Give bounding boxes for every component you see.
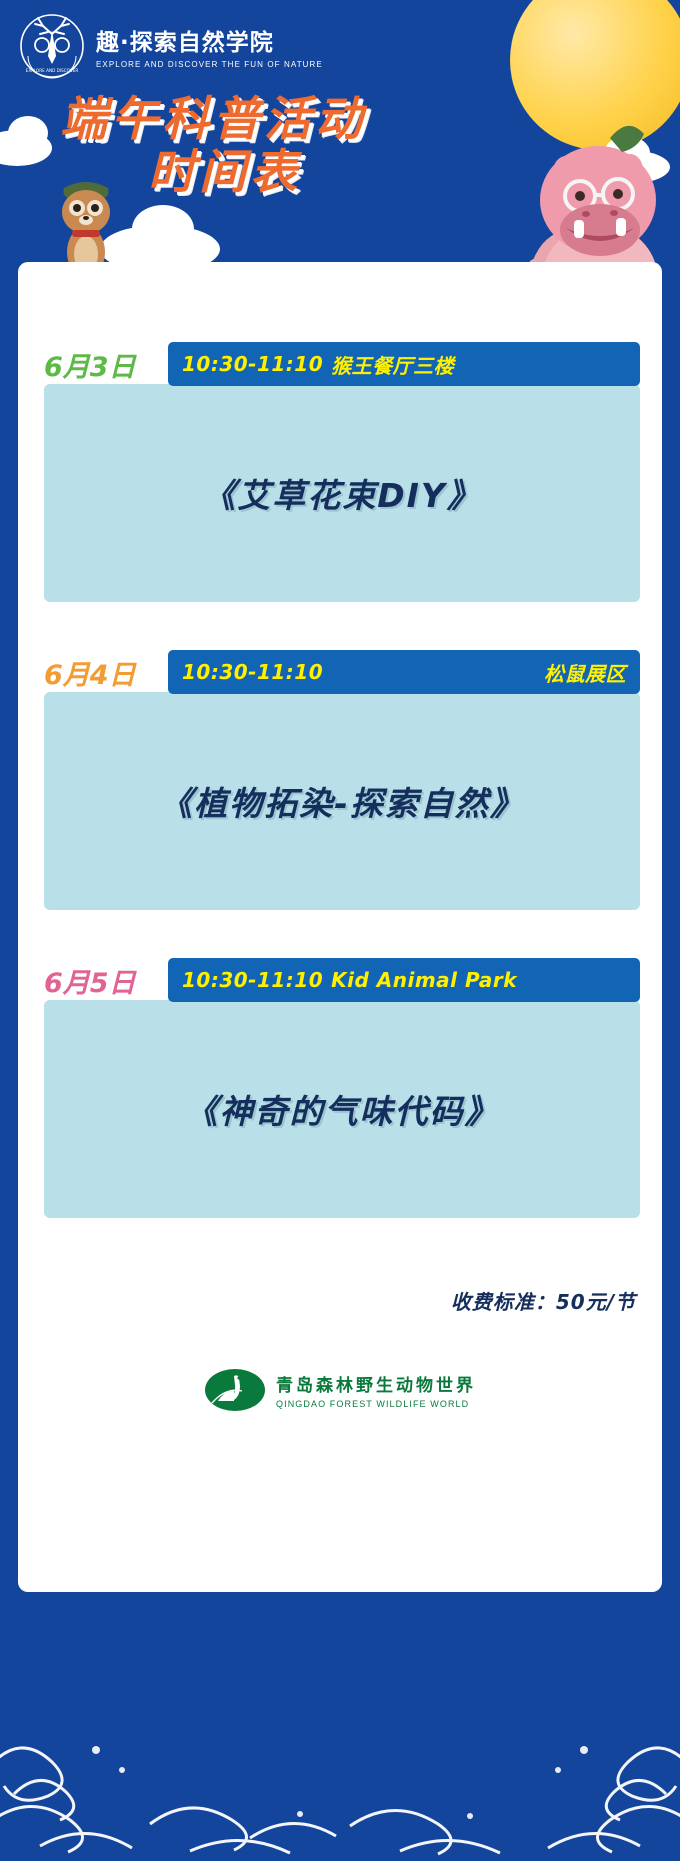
event-date: 6月4日 [44, 650, 168, 694]
event-body: 《艾草花束DIY》 [44, 384, 640, 602]
event-time: 10:30-11:10 [182, 352, 323, 376]
event-row[interactable]: 6月3日 10:30-11:10 猴王餐厅三楼 《艾草花束DIY》 [18, 342, 662, 602]
event-header: 6月5日 10:30-11:10 Kid Animal Park [18, 958, 662, 1002]
event-date: 6月5日 [44, 958, 168, 1002]
event-time: 10:30-11:10 [182, 660, 323, 684]
event-location: 松鼠展区 [544, 658, 626, 687]
event-title: 《艾草花束DIY》 [202, 469, 482, 517]
brand-name-en: EXPLORE AND DISCOVER THE FUN OF NATURE [96, 60, 323, 69]
svg-text:EXPLORE AND DISCOVER: EXPLORE AND DISCOVER [26, 68, 79, 73]
event-header: 6月4日 10:30-11:10 松鼠展区 [18, 650, 662, 694]
giraffe-in-circle-icon [204, 1367, 266, 1413]
event-list: 6月3日 10:30-11:10 猴王餐厅三楼 《艾草花束DIY》 6月4日 1… [18, 342, 662, 1266]
event-location: 猴王餐厅三楼 [331, 350, 454, 379]
event-title: 《神奇的气味代码》 [185, 1085, 500, 1133]
event-header: 6月3日 10:30-11:10 猴王餐厅三楼 [18, 342, 662, 386]
brand-logo: EXPLORE AND DISCOVER 趣·探索自然学院 EXPLORE AN… [18, 12, 323, 80]
footer-name-en: QINGDAO FOREST WILDLIFE WORLD [276, 1399, 476, 1409]
event-body: 《神奇的气味代码》 [44, 1000, 640, 1218]
footer-name-cn: 青岛森林野生动物世界 [276, 1371, 476, 1396]
deer-antler-emblem-icon: EXPLORE AND DISCOVER [18, 12, 86, 80]
event-banner: 10:30-11:10 猴王餐厅三楼 [168, 342, 640, 386]
event-date: 6月3日 [44, 342, 168, 386]
event-banner: 10:30-11:10 松鼠展区 [168, 650, 640, 694]
event-row[interactable]: 6月5日 10:30-11:10 Kid Animal Park 《神奇的气味代… [18, 958, 662, 1218]
wave-pattern-icon [0, 1646, 680, 1861]
event-body: 《植物拓染-探索自然》 [44, 692, 640, 910]
footer-logo: 青岛森林野生动物世界 QINGDAO FOREST WILDLIFE WORLD [18, 1367, 662, 1413]
event-location: Kid Animal Park [331, 968, 517, 992]
event-time: 10:30-11:10 [182, 968, 323, 992]
schedule-card: 6月3日 10:30-11:10 猴王餐厅三楼 《艾草花束DIY》 6月4日 1… [18, 262, 662, 1592]
fee-note: 收费标准：50元/节 [451, 1286, 636, 1315]
event-title: 《植物拓染-探索自然》 [159, 777, 525, 825]
event-banner: 10:30-11:10 Kid Animal Park [168, 958, 640, 1002]
event-row[interactable]: 6月4日 10:30-11:10 松鼠展区 《植物拓染-探索自然》 [18, 650, 662, 910]
brand-name-cn: 趣·探索自然学院 [96, 23, 323, 57]
